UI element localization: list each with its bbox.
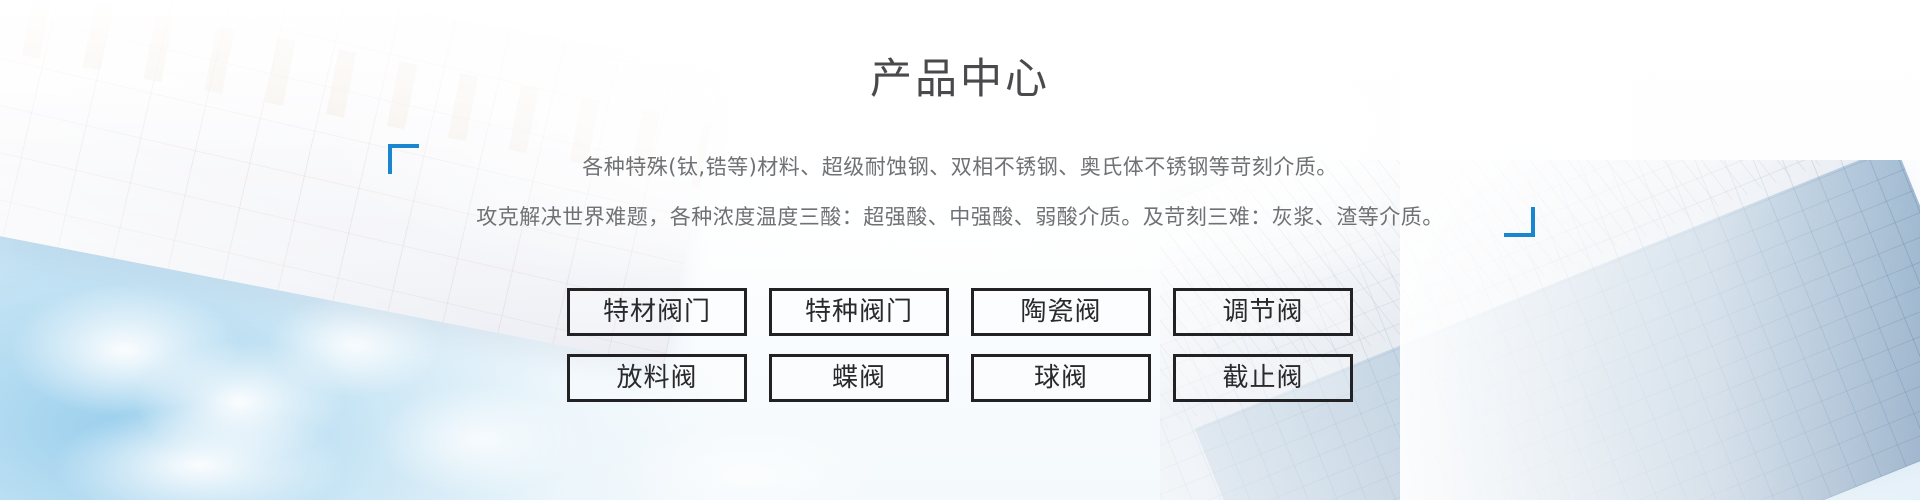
category-button-fangliao-fa[interactable]: 放料阀 xyxy=(567,354,747,402)
category-button-tiaojie-fa[interactable]: 调节阀 xyxy=(1173,288,1353,336)
category-button-die-fa[interactable]: 蝶阀 xyxy=(769,354,949,402)
category-button-qiu-fa[interactable]: 球阀 xyxy=(971,354,1151,402)
category-button-tezhong-famen[interactable]: 特种阀门 xyxy=(769,288,949,336)
category-button-techai-famen[interactable]: 特材阀门 xyxy=(567,288,747,336)
description-block: 各种特殊(钛,锆等)材料、超级耐蚀钢、双相不锈钢、奥氏体不锈钢等苛刻介质。 攻克… xyxy=(0,148,1920,236)
category-button-taoci-fa[interactable]: 陶瓷阀 xyxy=(971,288,1151,336)
product-category-grid: 特材阀门 特种阀门 陶瓷阀 调节阀 放料阀 蝶阀 球阀 截止阀 xyxy=(0,288,1920,402)
description-line-2: 攻克解决世界难题，各种浓度温度三酸：超强酸、中强酸、弱酸介质。及苛刻三难：灰浆、… xyxy=(0,198,1920,236)
category-button-jiezhi-fa[interactable]: 截止阀 xyxy=(1173,354,1353,402)
page-title: 产品中心 xyxy=(0,54,1920,104)
product-category-row: 放料阀 蝶阀 球阀 截止阀 xyxy=(567,354,1353,402)
product-category-row: 特材阀门 特种阀门 陶瓷阀 调节阀 xyxy=(567,288,1353,336)
banner-content: 产品中心 各种特殊(钛,锆等)材料、超级耐蚀钢、双相不锈钢、奥氏体不锈钢等苛刻介… xyxy=(0,0,1920,500)
product-center-banner: 产品中心 各种特殊(钛,锆等)材料、超级耐蚀钢、双相不锈钢、奥氏体不锈钢等苛刻介… xyxy=(0,0,1920,500)
description-line-1: 各种特殊(钛,锆等)材料、超级耐蚀钢、双相不锈钢、奥氏体不锈钢等苛刻介质。 xyxy=(0,148,1920,186)
